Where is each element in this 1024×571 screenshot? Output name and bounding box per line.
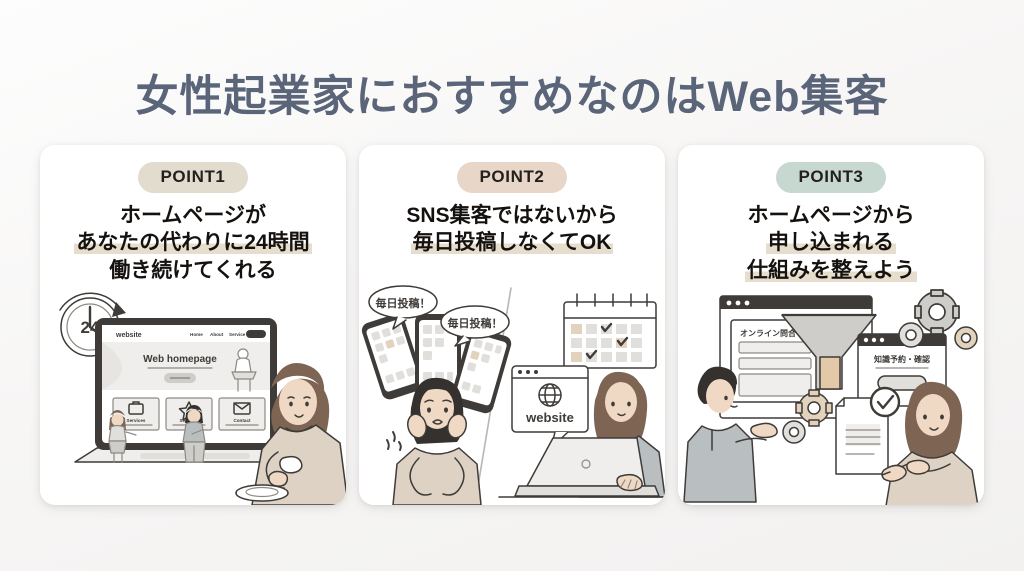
result-label: 知識予約・確認: [874, 354, 930, 364]
small-person-right: [183, 405, 205, 462]
screen-logo: website: [115, 332, 142, 339]
document-check: [836, 388, 899, 474]
point-headline-2: SNS集客ではないから 毎日投稿しなくてOK: [359, 202, 665, 258]
point-headline-3: ホームページから 申し込まれる 仕組みを整えよう: [678, 202, 984, 286]
point-badge-2: POINT2: [457, 162, 566, 193]
form-label: オンライン問合: [740, 328, 797, 338]
headline-line: 毎日投稿しなくてOK: [359, 229, 665, 257]
gear-large-icon: [915, 290, 959, 334]
page-title: 女性起業家におすすめなのはWeb集客: [0, 62, 1024, 124]
screen-nav-item: Service: [229, 332, 246, 337]
point-card-1[interactable]: POINT1 ホームページが あなたの代わりに24時間 働き続けてくれる 24: [40, 145, 346, 505]
headline-line: SNS集客ではないから: [359, 202, 665, 230]
illustration-laptop-website-24h: 24 website Home About Service Contact: [40, 280, 346, 505]
speech-text: 毎日投稿！: [376, 296, 431, 310]
gear-tiny-icon: [955, 327, 977, 349]
gear-small-icon: [899, 323, 923, 347]
point-card-2[interactable]: POINT2 SNS集客ではないから 毎日投稿しなくてOK: [359, 145, 665, 505]
calendar: [564, 294, 656, 368]
illustration-funnel-booking-system: オンライン問合: [678, 280, 984, 505]
point-card-3[interactable]: POINT3 ホームページから 申し込まれる 仕組みを整えよう: [678, 145, 984, 505]
screen-nav-item: About: [210, 332, 224, 337]
browser-label: website: [525, 410, 574, 425]
point-badge-3: POINT3: [776, 162, 885, 193]
speech-text: 毎日投稿！: [448, 316, 503, 330]
headline-line: ホームページから: [678, 202, 984, 230]
headline-line: ホームページが: [40, 202, 346, 230]
point-badge-1: POINT1: [138, 162, 247, 193]
screen-nav-item: Home: [190, 332, 203, 337]
screen-nav-item: Contact: [249, 332, 265, 337]
website-browser-bubble: website: [512, 366, 588, 448]
gear-bottom-icon: [783, 421, 805, 443]
screen-heading: Web homepage: [143, 354, 217, 365]
sweat-marks: [387, 432, 401, 450]
point-headline-1: ホームページが あなたの代わりに24時間 働き続けてくれる: [40, 202, 346, 286]
points-card-row: POINT1 ホームページが あなたの代わりに24時間 働き続けてくれる 24: [40, 145, 984, 505]
feature-label: Contact: [233, 418, 251, 423]
feature-label: Services: [127, 418, 146, 423]
illustration-sns-vs-website: 毎日投稿！ 毎日投稿！: [359, 280, 665, 505]
headline-line: 申し込まれる: [678, 229, 984, 257]
headline-line: あなたの代わりに24時間: [40, 229, 346, 257]
